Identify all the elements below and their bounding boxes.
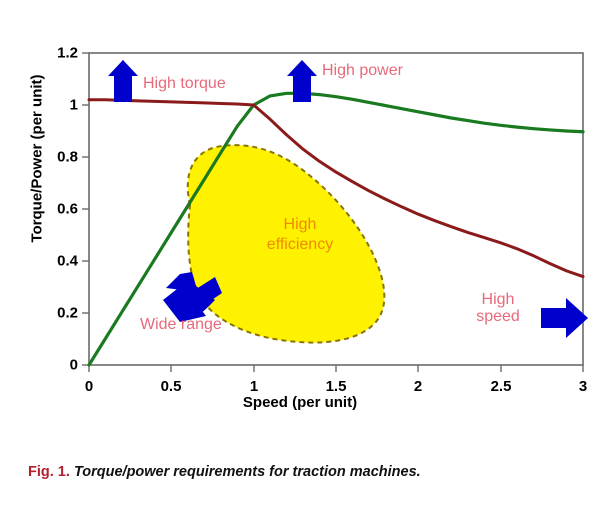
caption-bar: Fig. 1. Torque/power requirements for tr…: [0, 440, 600, 506]
annotation-high-efficiency-line1: High: [230, 215, 370, 235]
figure-caption: Fig. 1. Torque/power requirements for tr…: [28, 464, 421, 480]
x-tick-2-5: 2.5: [491, 378, 512, 395]
x-tick-2: 2: [414, 378, 422, 395]
x-tick-0: 0: [85, 378, 93, 395]
y-tick-1-2: 1.2: [40, 45, 78, 62]
y-tick-0-2: 0.2: [40, 305, 78, 322]
y-axis-title: Torque/Power (per unit): [29, 49, 46, 269]
annotation-high-power: High power: [322, 63, 403, 80]
annotation-high-efficiency: High efficiency: [230, 215, 370, 255]
y-tick-0-6: 0.6: [40, 201, 78, 218]
figure-root: 0 0.2 0.4 0.6 0.8 1 1.2 0 0.5 1 1.5 2 2.…: [0, 0, 600, 506]
y-tick-1: 1: [40, 97, 78, 114]
x-tick-0-5: 0.5: [161, 378, 182, 395]
x-tick-marks: [89, 365, 583, 372]
x-tick-1-5: 1.5: [326, 378, 347, 395]
x-tick-3: 3: [579, 378, 587, 395]
annotation-wide-range: Wide range: [140, 317, 222, 334]
x-tick-1: 1: [250, 378, 258, 395]
chart-figure: 0 0.2 0.4 0.6 0.8 1 1.2 0 0.5 1 1.5 2 2.…: [0, 0, 600, 440]
y-tick-0-4: 0.4: [40, 253, 78, 270]
annotation-high-torque: High torque: [143, 76, 226, 93]
x-axis-title: Speed (per unit): [0, 394, 600, 411]
y-tick-0: 0: [40, 357, 78, 374]
annotation-high-speed-line1: High: [460, 292, 536, 309]
figure-caption-number: Fig. 1.: [28, 464, 70, 480]
annotation-high-speed-line2: speed: [460, 309, 536, 326]
annotation-high-efficiency-line2: efficiency: [230, 235, 370, 255]
annotation-high-speed: High speed: [460, 292, 536, 326]
y-tick-0-8: 0.8: [40, 149, 78, 166]
figure-caption-text: Torque/power requirements for traction m…: [74, 464, 421, 480]
